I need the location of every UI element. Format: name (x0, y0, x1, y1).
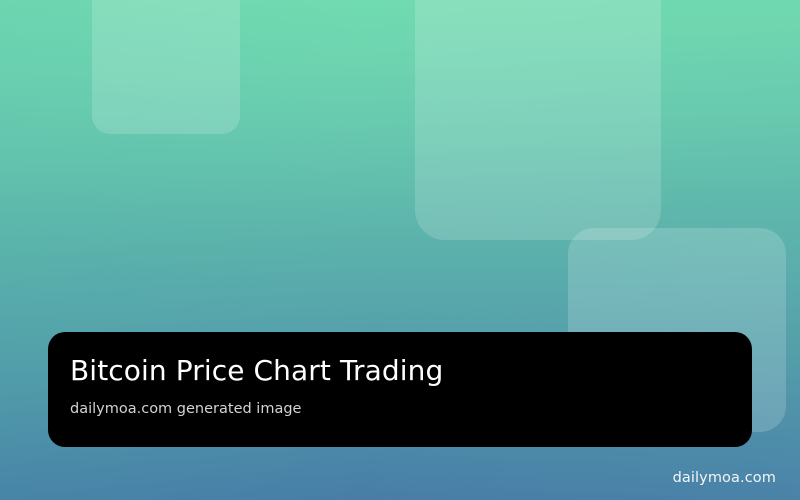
watermark-label: dailymoa.com (673, 469, 776, 487)
page-title: Bitcoin Price Chart Trading (70, 354, 726, 388)
title-card: Bitcoin Price Chart Trading dailymoa.com… (48, 332, 752, 447)
image-canvas: Bitcoin Price Chart Trading dailymoa.com… (0, 0, 800, 500)
page-subtitle: dailymoa.com generated image (70, 399, 726, 419)
